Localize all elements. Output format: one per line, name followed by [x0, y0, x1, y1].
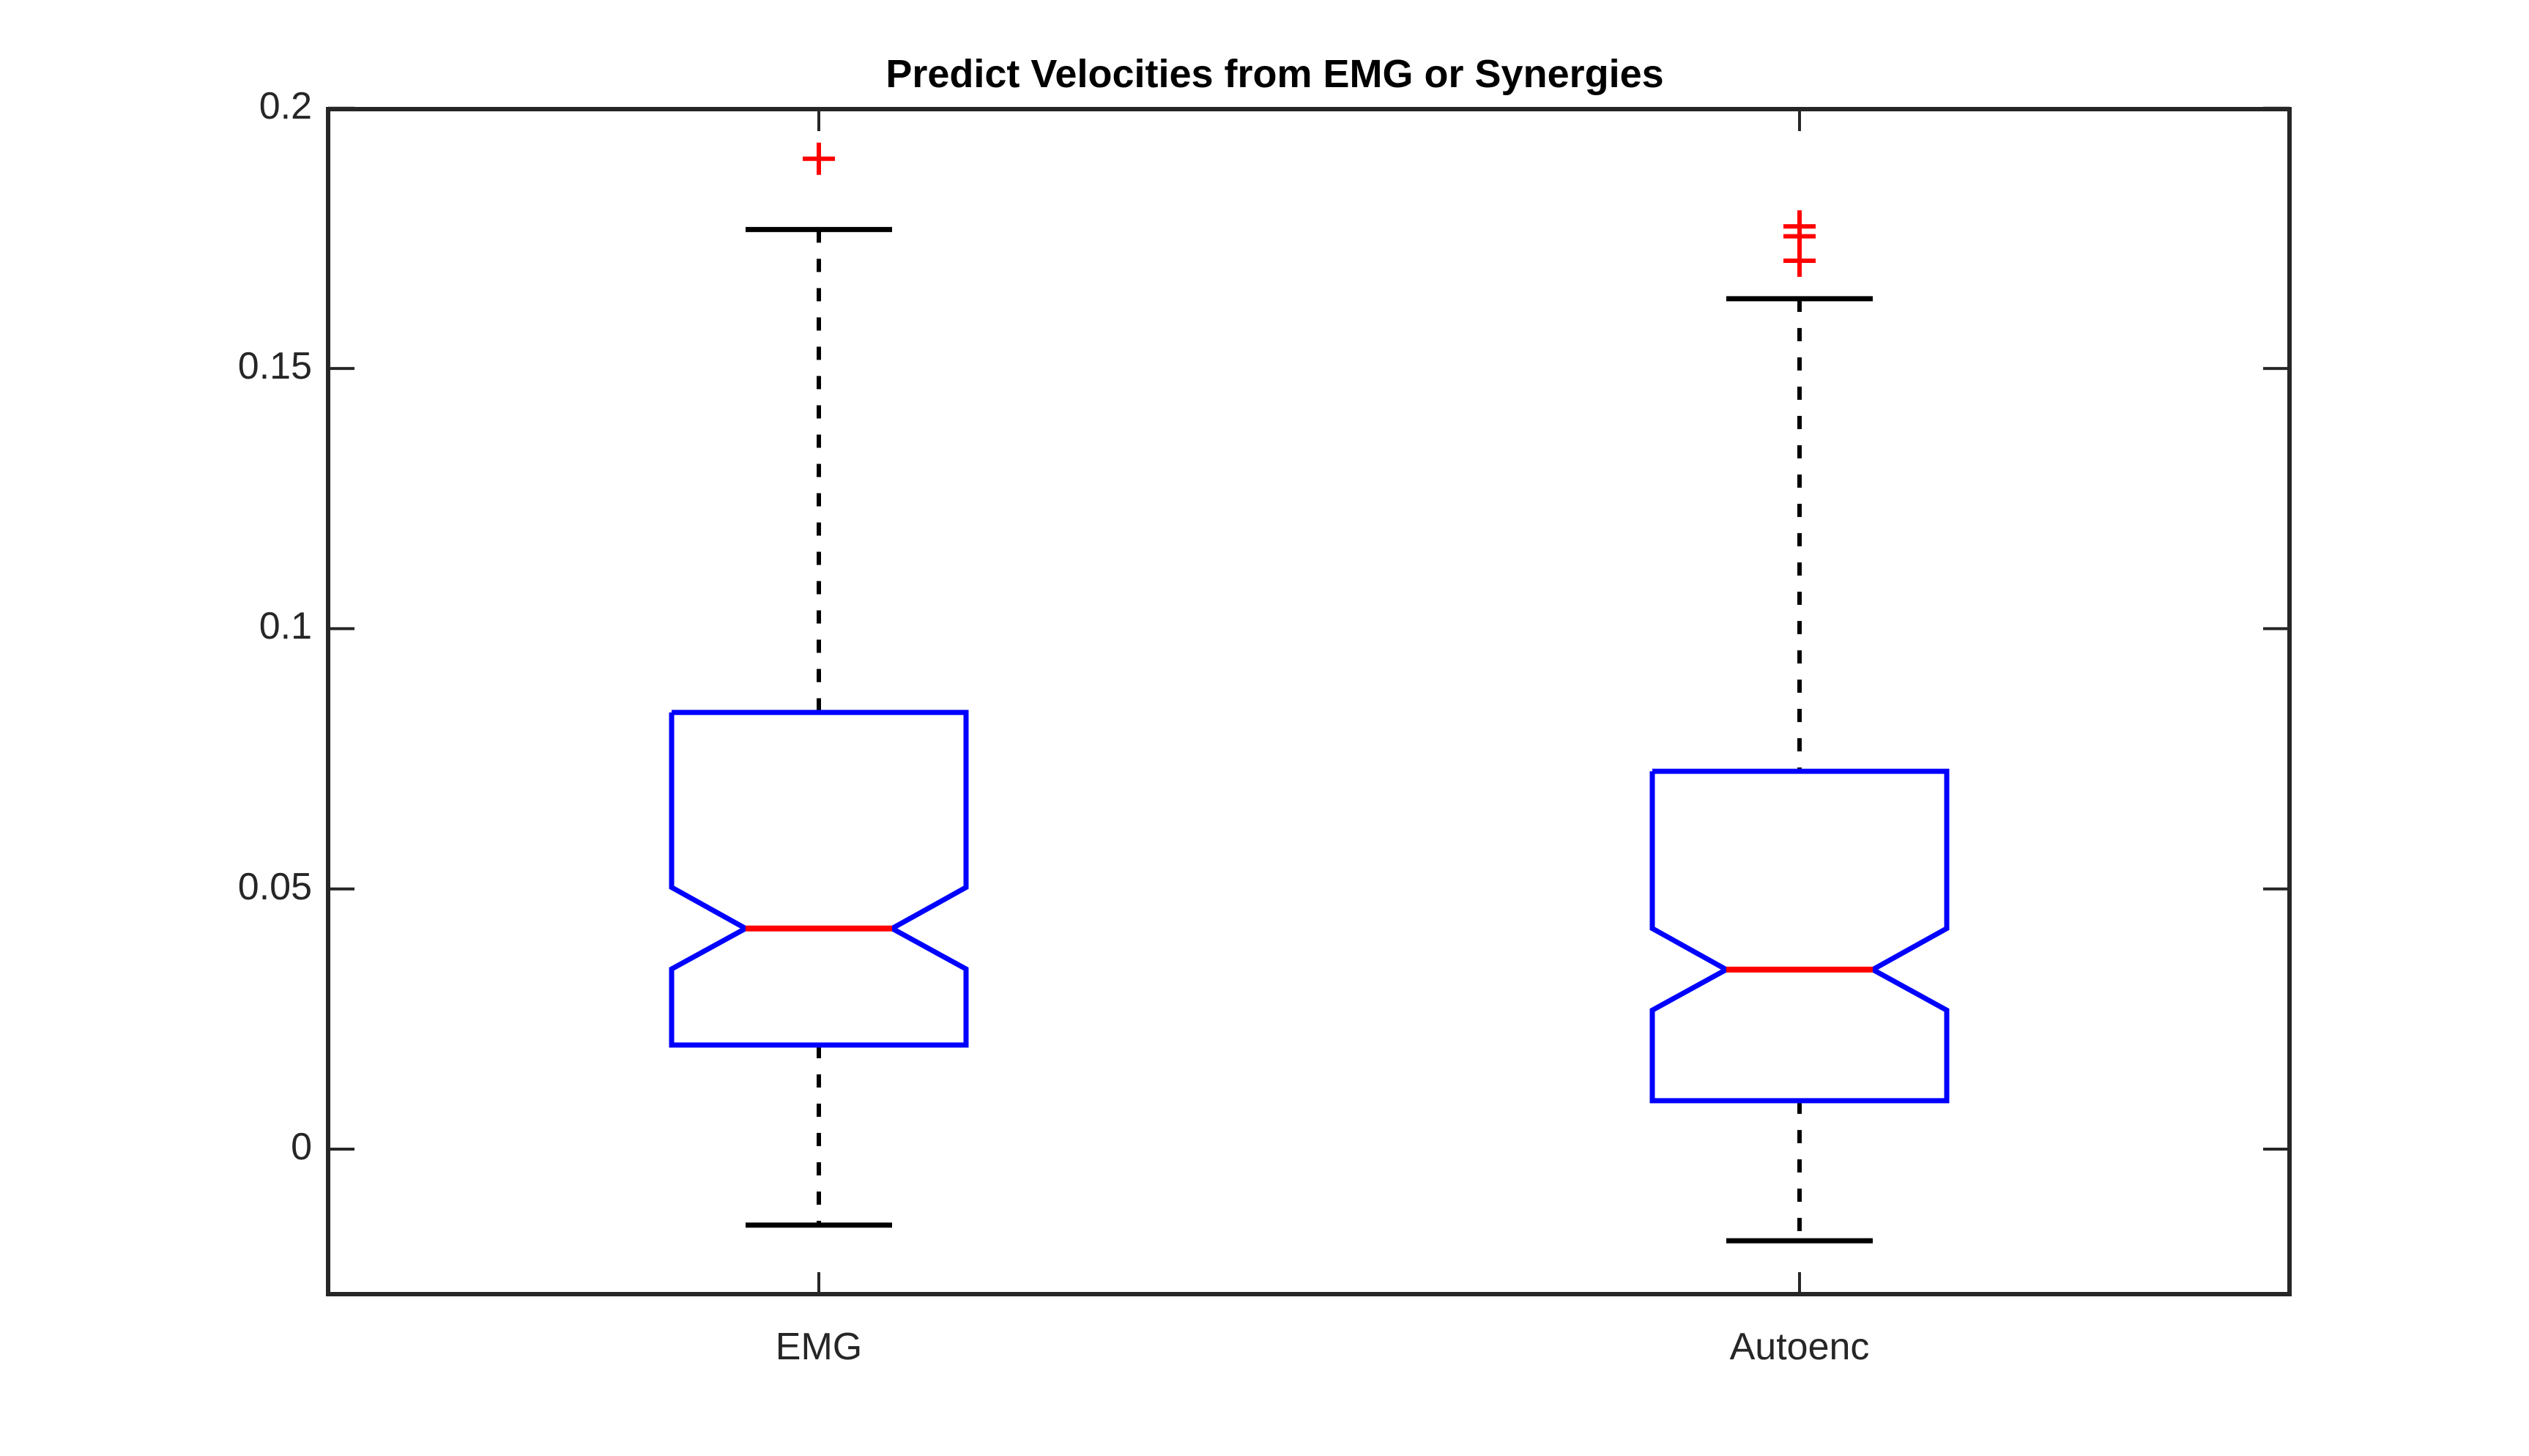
y-tick-label: 0	[291, 1125, 312, 1169]
y-tick-label: 0.05	[238, 865, 312, 909]
axes-frame	[328, 108, 2290, 1294]
y-tick-label: 0.2	[259, 84, 312, 128]
x-tick-label-autoenc: Autoenc	[1580, 1325, 2019, 1369]
y-tick-label: 0.15	[238, 344, 312, 388]
figure-canvas: Predict Velocities from EMG or Synergies…	[0, 0, 2529, 1456]
boxplot-svg	[0, 0, 2529, 1456]
box-outline[interactable]	[1652, 771, 1947, 1101]
box-group	[1652, 210, 1947, 1241]
box-outline[interactable]	[672, 713, 966, 1045]
box-series	[672, 143, 1947, 1241]
axes-box	[328, 109, 2290, 1294]
x-tick-label-emg: EMG	[599, 1325, 1039, 1369]
y-tick-label: 0.1	[259, 604, 312, 648]
box-group	[672, 143, 966, 1225]
